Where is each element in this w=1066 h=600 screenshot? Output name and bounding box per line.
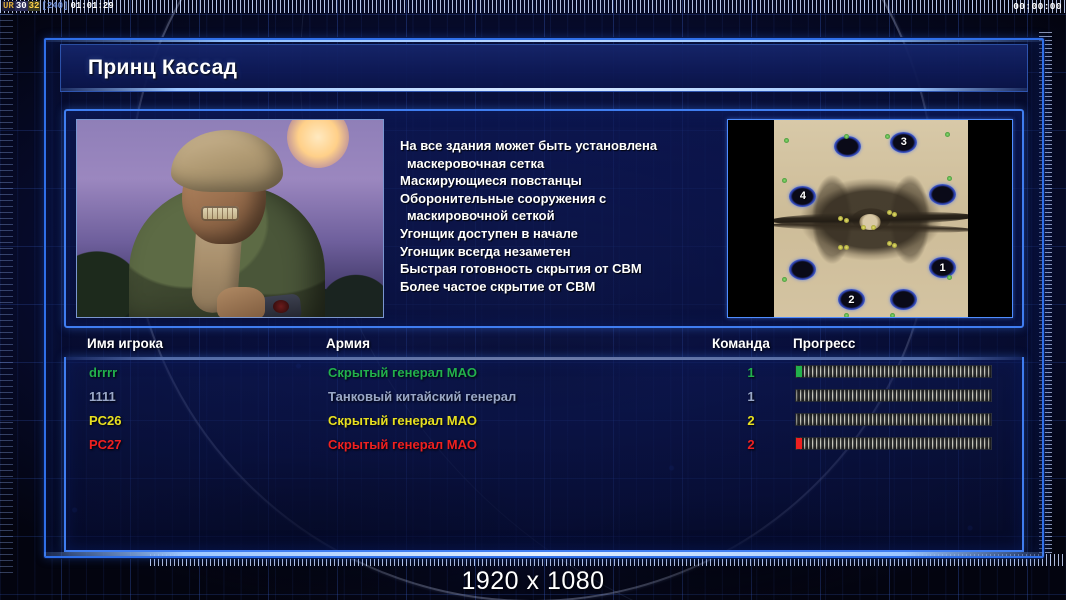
minimap-tech-icon: [945, 132, 950, 137]
description-line: Быстрая готовность скрытия от СВМ: [400, 260, 696, 278]
table-row: PC27Скрытый генерал МАО2: [66, 433, 1022, 457]
player-team-cell: 2: [740, 433, 762, 457]
table-row: 1111Танковый китайский генерал1: [66, 385, 1022, 409]
column-header-team: Команда: [712, 336, 770, 351]
table-header-row: Имя игрока Армия Команда Прогресс: [64, 336, 1024, 357]
player-name-cell: drrrr: [89, 361, 117, 385]
minimap-start-position: 3: [890, 132, 917, 153]
description-line: Оборонительные сооружения с: [400, 190, 696, 208]
minimap-supply-icon: [887, 241, 892, 246]
player-army-cell: Танковый китайский генерал: [328, 385, 516, 409]
page-title: Принц Кассад: [61, 56, 237, 80]
players-table: drrrrСкрытый генерал МАО11111Танковый ки…: [64, 357, 1024, 552]
column-header-army: Армия: [326, 336, 370, 351]
hud-clock: 00:00:00: [1013, 1, 1062, 12]
column-header-player-name: Имя игрока: [87, 336, 163, 351]
player-team-cell: 1: [740, 385, 762, 409]
minimap-tech-icon: [844, 134, 849, 139]
perf-prefix: UR: [2, 1, 15, 11]
minimap-tech-icon: [844, 313, 849, 318]
player-name-cell: 1111: [89, 385, 116, 409]
resolution-label: 1920 x 1080: [0, 567, 1066, 596]
minimap-tech-icon: [784, 138, 789, 143]
minimap-tech-icon: [782, 277, 787, 282]
description-line: Угонщик доступен в начале: [400, 225, 696, 243]
description-line: На все здания может быть установлена: [400, 137, 696, 155]
player-team-cell: 1: [740, 361, 762, 385]
player-army-cell: Скрытый генерал МАО: [328, 361, 477, 385]
table-row: PC26Скрытый генерал МАО2: [66, 409, 1022, 433]
description-line: маскеровочная сетка: [400, 155, 696, 173]
minimap-start-position: 2: [838, 289, 865, 310]
minimap-supply-icon: [892, 212, 897, 217]
minimap: 3412: [727, 119, 1013, 318]
player-progress-fill: [796, 438, 802, 449]
minimap-start-position: 4: [789, 186, 816, 207]
description-line: Более частое скрытие от СВМ: [400, 278, 696, 296]
loading-screen: UR3032[240]01:01:29 00:00:00 Принц Касса…: [0, 0, 1066, 600]
info-panel: На все здания может быть установленамаск…: [64, 109, 1024, 328]
ruler-top-icon: [0, 0, 1066, 13]
perf-fps: 30: [15, 1, 28, 11]
minimap-start-position: [834, 136, 861, 157]
portrait-teeth: [201, 206, 239, 221]
perf-time: 01:01:29: [69, 1, 114, 11]
minimap-terrain: 3412: [774, 120, 968, 318]
perf-frame: 32: [28, 1, 41, 11]
player-progress-fill: [796, 366, 802, 377]
minimap-supply-icon: [844, 218, 849, 223]
perf-overlay: UR3032[240]01:01:29: [2, 1, 115, 11]
description-line: маскировочной сеткой: [400, 207, 696, 225]
player-army-cell: Скрытый генерал МАО: [328, 409, 477, 433]
portrait-weapon-detail: [273, 300, 289, 313]
minimap-tech-icon: [782, 178, 787, 183]
minimap-start-position: [929, 184, 956, 205]
table-row: drrrrСкрытый генерал МАО1: [66, 361, 1022, 385]
general-description: На все здания может быть установленамаск…: [400, 137, 696, 295]
player-army-cell: Скрытый генерал МАО: [328, 433, 477, 457]
portrait-hand: [217, 287, 265, 318]
ruler-left-icon: [0, 14, 13, 574]
minimap-tech-icon: [947, 176, 952, 181]
column-header-progress: Прогресс: [793, 336, 855, 351]
minimap-supply-icon: [838, 216, 843, 221]
player-name-cell: PC27: [89, 433, 122, 457]
title-bar: Принц Кассад: [60, 44, 1028, 92]
general-portrait: [76, 119, 384, 318]
minimap-supply-icon: [887, 210, 892, 215]
minimap-tech-icon: [885, 134, 890, 139]
description-line: Маскирующиеся повстанцы: [400, 172, 696, 190]
player-progress-bar: [795, 389, 992, 402]
player-team-cell: 2: [740, 409, 762, 433]
frame-top-glow: [46, 40, 1042, 42]
description-line: Угонщик всегда незаметен: [400, 243, 696, 261]
player-name-cell: PC26: [89, 409, 122, 433]
minimap-tech-icon: [947, 275, 952, 280]
footer-divider: [44, 552, 1044, 556]
perf-bracket: [240]: [40, 1, 69, 11]
player-progress-bar: [795, 437, 992, 450]
minimap-tech-icon: [890, 313, 895, 318]
player-progress-bar: [795, 365, 992, 378]
player-progress-bar: [795, 413, 992, 426]
